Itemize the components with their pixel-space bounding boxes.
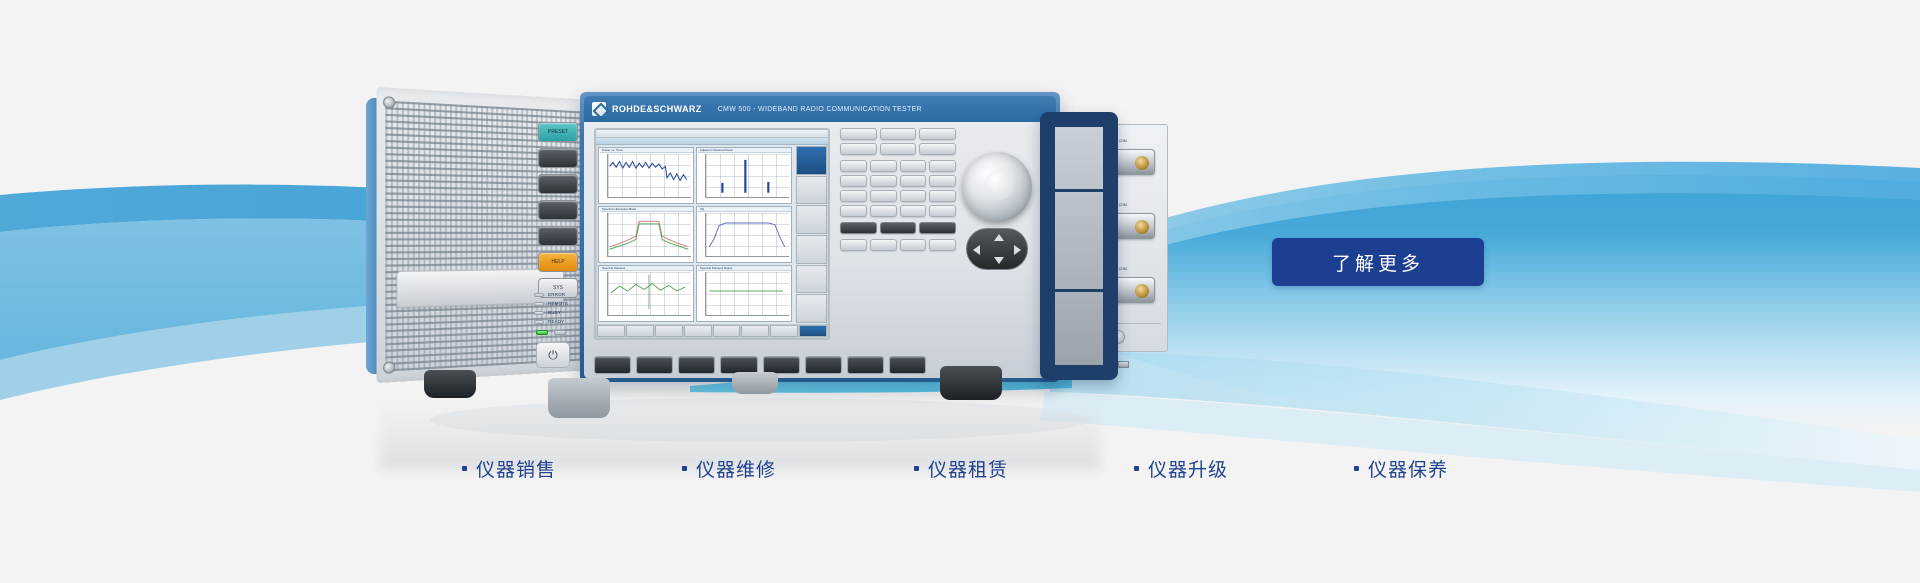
service-label: 仪器销售	[476, 455, 556, 482]
led-row-ready: READY	[534, 319, 582, 324]
help-key[interactable]: HELP	[538, 252, 578, 272]
display-panel-grid: Power vs. Time Adjacent Channel Power	[596, 145, 794, 324]
key-decimal[interactable]	[870, 205, 897, 217]
key-2[interactable]	[870, 190, 897, 202]
display-tab[interactable]	[597, 325, 625, 337]
key-home[interactable]	[929, 239, 956, 251]
chart-panel-power-vs-time: Power vs. Time	[598, 147, 694, 204]
keypad	[840, 128, 956, 352]
key-1[interactable]	[840, 190, 867, 202]
chart-panel-spectral-flatness: Spectral Flatness	[598, 265, 694, 322]
service-item-upgrade[interactable]: 仪器升级	[1134, 455, 1228, 482]
key-sign[interactable]	[900, 205, 927, 217]
keypad-group-numeric	[840, 160, 956, 217]
bullet-icon	[1354, 466, 1359, 471]
keypad-group-measure	[840, 128, 956, 155]
instrument-display[interactable]: Power vs. Time Adjacent Channel Power	[594, 128, 830, 340]
instrument-foot	[424, 370, 476, 398]
key-meas[interactable]	[840, 128, 877, 140]
rotary-knob[interactable]	[962, 152, 1032, 222]
brand-name: ROHDE&SCHWARZ	[612, 104, 702, 114]
display-parameter-bar	[596, 138, 828, 145]
bullet-icon	[682, 466, 687, 471]
chart-panel-spectral-flatness-ripple: Spectral Flatness Ripple	[696, 265, 792, 322]
preset-key[interactable]: PRESET	[538, 122, 578, 142]
status-led-group: ERROR REMOTE BUSY READY	[534, 292, 582, 328]
display-tab[interactable]	[713, 325, 741, 337]
chart-panel-iq: I/Q	[696, 206, 792, 263]
display-tab[interactable]	[770, 325, 798, 337]
bullet-icon	[914, 466, 919, 471]
bottom-softkey[interactable]	[805, 356, 842, 374]
keypad-group-control	[840, 239, 956, 251]
setup-key[interactable]	[538, 200, 578, 220]
service-label: 仪器租赁	[928, 455, 1008, 482]
key-4[interactable]	[840, 175, 867, 187]
arrow-down-icon[interactable]	[994, 257, 1004, 264]
display-tab[interactable]	[684, 325, 712, 337]
menu-key[interactable]	[538, 226, 578, 246]
display-softkey[interactable]	[796, 294, 827, 323]
key-gen[interactable]	[919, 128, 956, 140]
banner-stage: ROHDE&SCHWARZ CMW 500 - WIDEBAND RADIO C…	[0, 0, 1920, 583]
remote-led-label: REMOTE	[548, 301, 568, 306]
ready-led-icon	[534, 320, 544, 324]
display-softkey[interactable]	[796, 146, 827, 175]
model-name: CMW 500 - WIDEBAND RADIO COMMUNICATION T…	[718, 106, 922, 113]
service-item-repair[interactable]: 仪器维修	[682, 455, 776, 482]
key-8[interactable]	[870, 160, 897, 172]
display-softkey[interactable]	[796, 235, 827, 264]
instrument-foot	[940, 366, 1002, 400]
bottom-softkey[interactable]	[636, 356, 673, 374]
rotary-control-area	[962, 152, 1036, 272]
key-7[interactable]	[840, 160, 867, 172]
key-tab[interactable]	[880, 222, 917, 234]
key-enter[interactable]	[919, 222, 956, 234]
key-0[interactable]	[840, 205, 867, 217]
key-backspace[interactable]	[840, 222, 877, 234]
rohde-schwarz-logo-icon	[592, 102, 606, 116]
bullet-icon	[462, 466, 467, 471]
key-multiply[interactable]	[929, 175, 956, 187]
key-9[interactable]	[900, 160, 927, 172]
carrying-handle	[1040, 112, 1118, 380]
task-select-key[interactable]	[538, 174, 578, 194]
key-esc[interactable]	[900, 239, 927, 251]
chart-panel-spectrum-emission-mask: Spectrum Emission Mask	[598, 206, 694, 263]
bottom-softkey[interactable]	[594, 356, 631, 374]
arrow-right-icon[interactable]	[1014, 245, 1021, 255]
display-tab[interactable]	[799, 325, 827, 337]
key-5[interactable]	[870, 175, 897, 187]
bottom-softkey[interactable]	[889, 356, 926, 374]
bottom-softkey[interactable]	[847, 356, 884, 374]
led-row-busy: BUSY	[534, 310, 582, 315]
ready-led-label: READY	[548, 319, 565, 324]
key-plus[interactable]	[929, 205, 956, 217]
service-label: 仪器升级	[1148, 455, 1228, 482]
instrument-foot	[732, 372, 778, 394]
usb-port-icon[interactable]	[1118, 361, 1129, 368]
service-item-sales[interactable]: 仪器销售	[462, 455, 556, 482]
arrow-up-icon[interactable]	[994, 234, 1004, 241]
key-on[interactable]	[840, 239, 867, 251]
error-led-icon	[534, 293, 544, 297]
service-label: 仪器保养	[1368, 455, 1448, 482]
standby-led-icon	[554, 330, 566, 335]
display-softkey-column	[795, 145, 828, 324]
key-minus[interactable]	[929, 190, 956, 202]
cursor-dpad[interactable]	[966, 228, 1028, 270]
display-tab[interactable]	[626, 325, 654, 337]
busy-led-icon	[534, 311, 544, 315]
led-row-remote: REMOTE	[534, 301, 582, 306]
display-bottom-tab-bar	[596, 324, 828, 338]
service-item-rental[interactable]: 仪器租赁	[914, 455, 1008, 482]
key-trig[interactable]	[840, 143, 877, 155]
service-item-maintenance[interactable]: 仪器保养	[1354, 455, 1448, 482]
service-label: 仪器维修	[696, 455, 776, 482]
display-softkey[interactable]	[796, 176, 827, 205]
instrument-photo: ROHDE&SCHWARZ CMW 500 - WIDEBAND RADIO C…	[380, 78, 1100, 408]
keypad-group-edit	[840, 222, 956, 234]
key-file[interactable]	[880, 143, 917, 155]
key-divide[interactable]	[929, 160, 956, 172]
arrow-left-icon[interactable]	[973, 245, 980, 255]
bullet-icon	[1134, 466, 1139, 471]
bottom-softkey[interactable]	[678, 356, 715, 374]
learn-more-button[interactable]: 了解更多	[1272, 238, 1484, 286]
instrument-front-panel: ROHDE&SCHWARZ CMW 500 - WIDEBAND RADIO C…	[580, 92, 1060, 382]
display-softkey[interactable]	[796, 205, 827, 234]
screw-icon	[383, 96, 395, 109]
remote-led-icon	[534, 302, 544, 306]
display-tab[interactable]	[655, 325, 683, 337]
busy-led-label: BUSY	[548, 310, 561, 315]
display-tab[interactable]	[741, 325, 769, 337]
chart-panel-adjacent-channel-power: Adjacent Channel Power	[696, 147, 792, 204]
save-recall-key[interactable]	[538, 148, 578, 168]
key-signal[interactable]	[880, 128, 917, 140]
function-key-column: PRESET HELP SYS	[538, 122, 578, 298]
power-on-led-icon	[536, 330, 548, 335]
key-print[interactable]	[919, 143, 956, 155]
key-off[interactable]	[870, 239, 897, 251]
brand-bar: ROHDE&SCHWARZ CMW 500 - WIDEBAND RADIO C…	[584, 96, 1056, 122]
key-3[interactable]	[900, 190, 927, 202]
error-led-label: ERROR	[548, 292, 565, 297]
display-menu-bar	[596, 130, 828, 138]
key-6[interactable]	[900, 175, 927, 187]
led-row-error: ERROR	[534, 292, 582, 297]
power-button[interactable]: ⏻	[536, 342, 570, 368]
screw-icon	[383, 361, 395, 374]
display-softkey[interactable]	[796, 265, 827, 294]
